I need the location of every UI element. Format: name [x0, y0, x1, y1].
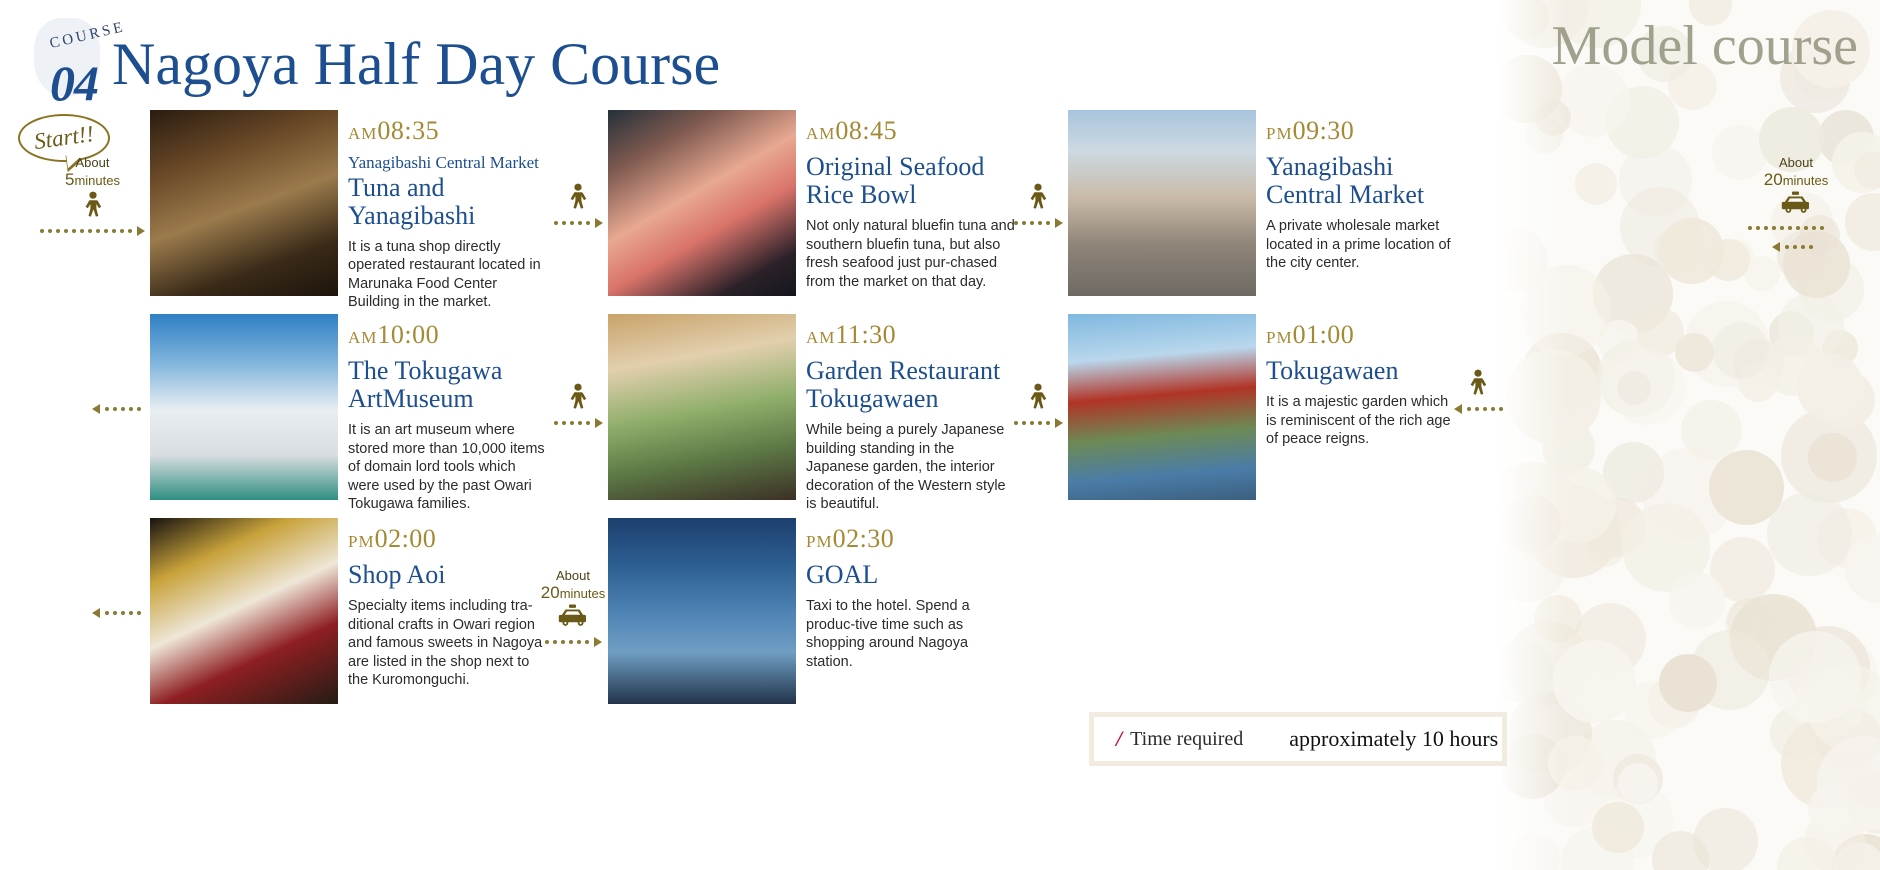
- arrow-dot: [586, 221, 590, 225]
- start-label: Start!!: [32, 121, 95, 155]
- walking-person-icon-wrap: [548, 383, 608, 414]
- arrow-dot: [1014, 421, 1018, 425]
- arrow-dot: [1780, 226, 1784, 230]
- card-time-meridiem: AM: [806, 328, 835, 347]
- decorative-circle: [1669, 572, 1725, 628]
- arrow-dot: [121, 611, 125, 615]
- card-photo: [150, 518, 338, 704]
- arrow-head-icon: [137, 226, 145, 236]
- card-time: AM10:00: [348, 322, 546, 348]
- time-required-box: / Time required approximately 10 hours: [1089, 712, 1507, 766]
- arrow-dot: [577, 640, 581, 644]
- arrow-dot: [113, 611, 117, 615]
- arrow-dot: [1491, 407, 1495, 411]
- card-time: AM08:35: [348, 118, 546, 144]
- connector-about-label: About: [1748, 155, 1844, 170]
- card-time-value: 02:30: [833, 524, 895, 553]
- arrow-dot: [137, 611, 141, 615]
- decorative-circle: [1575, 163, 1617, 205]
- connector-duration-unit: minutes: [1783, 173, 1829, 188]
- arrow-dot: [129, 611, 133, 615]
- card-body: PM02:00Shop AoiSpecialty items including…: [348, 526, 546, 690]
- card-time: AM11:30: [806, 322, 1018, 348]
- arrow-dot: [1756, 226, 1760, 230]
- arrow-dot: [72, 229, 76, 233]
- arrow-dot: [105, 407, 109, 411]
- arrow-dot: [1038, 221, 1042, 225]
- arrow-dot: [1038, 421, 1042, 425]
- connector-duration: 20minutes: [1748, 170, 1844, 190]
- card-photo: [608, 518, 796, 704]
- arrow-dot: [1804, 226, 1808, 230]
- decorative-circle: [1709, 450, 1784, 525]
- card-photo: [608, 110, 796, 296]
- arrow-head-icon: [1055, 218, 1063, 228]
- dotted-arrow: [540, 637, 606, 647]
- card-time: PM09:30: [1266, 118, 1456, 144]
- taxi-icon-wrap: [540, 604, 606, 633]
- arrow-dot: [120, 229, 124, 233]
- card-time-meridiem: AM: [348, 124, 377, 143]
- card-time-meridiem: AM: [806, 124, 835, 143]
- card-time-value: 09:30: [1293, 116, 1355, 145]
- arrow-dot: [1499, 407, 1503, 411]
- taxi-icon-wrap: [1748, 191, 1844, 220]
- route-connector: [548, 382, 608, 428]
- card-description: Taxi to the hotel. Spend a produc-tive t…: [806, 597, 1018, 671]
- arrow-head-icon: [1772, 242, 1780, 252]
- connector-about-label: About: [540, 568, 606, 583]
- arrow-dot: [105, 611, 109, 615]
- card-photo: [608, 314, 796, 500]
- arrow-dot: [1796, 226, 1800, 230]
- card-title: GOAL: [806, 561, 1018, 589]
- decorative-circle: [1618, 763, 1658, 803]
- card-body: PM02:30GOALTaxi to the hotel. Spend a pr…: [806, 526, 1018, 671]
- card-time-meridiem: PM: [1266, 328, 1293, 347]
- card-time: PM01:00: [1266, 322, 1456, 348]
- slash-icon: /: [1116, 726, 1122, 752]
- route-connector: About5minutes: [20, 155, 165, 236]
- arrow-dot: [56, 229, 60, 233]
- arrow-dot: [1030, 421, 1034, 425]
- card-photo: [150, 110, 338, 296]
- card-body: AM08:35Yanagibashi Central MarketTuna an…: [348, 118, 546, 312]
- walking-person-icon: [1027, 183, 1049, 209]
- time-required-label: Time required: [1130, 728, 1243, 751]
- arrow-dot: [1748, 226, 1752, 230]
- decorative-circle: [1659, 654, 1717, 712]
- arrow-dot: [121, 407, 125, 411]
- card-time-meridiem: PM: [806, 532, 833, 551]
- arrow-dot: [88, 229, 92, 233]
- card-time: PM02:30: [806, 526, 1018, 552]
- arrow-dot: [586, 421, 590, 425]
- card-body: AM08:45Original Seafood Rice BowlNot onl…: [806, 118, 1018, 291]
- arrow-head-icon: [595, 418, 603, 428]
- arrow-dot: [1467, 407, 1471, 411]
- arrow-dot: [1030, 221, 1034, 225]
- card-time-meridiem: PM: [348, 532, 375, 551]
- card-subtitle: Yanagibashi Central Market: [348, 153, 546, 173]
- taxi-icon: [1781, 191, 1811, 215]
- walking-person-icon: [567, 383, 589, 409]
- arrow-dot: [128, 229, 132, 233]
- arrow-dot: [570, 421, 574, 425]
- walking-person-icon-wrap: [1448, 369, 1508, 400]
- decorative-circle: [1592, 802, 1643, 853]
- card-title: Tuna and Yanagibashi: [348, 174, 546, 230]
- walking-person-icon-wrap: [548, 183, 608, 214]
- connector-duration-unit: minutes: [560, 586, 606, 601]
- connector-about-label: About: [20, 155, 165, 170]
- card-description: It is a tuna shop directly operated rest…: [348, 238, 546, 312]
- connector-duration-unit: minutes: [74, 173, 120, 188]
- card-description: It is a majestic garden which is reminis…: [1266, 393, 1456, 449]
- card-time: AM08:45: [806, 118, 1018, 144]
- course-number: 04: [50, 54, 98, 112]
- connector-duration: 20minutes: [540, 583, 606, 603]
- card-photo: [1068, 110, 1256, 296]
- model-course-heading: Model course: [1552, 14, 1858, 78]
- arrow-dot: [569, 640, 573, 644]
- card-time-value: 11:30: [835, 320, 896, 349]
- arrow-dot: [1772, 226, 1776, 230]
- dotted-arrow: [1448, 404, 1508, 414]
- card-time-meridiem: PM: [1266, 124, 1293, 143]
- uturn-dotted-arrow: [1748, 226, 1844, 266]
- taxi-icon: [558, 604, 588, 628]
- arrow-head-icon: [595, 218, 603, 228]
- time-required-value: approximately 10 hours: [1289, 726, 1498, 752]
- card-description: It is an art museum where stored more th…: [348, 421, 546, 514]
- dotted-arrow: [20, 226, 165, 236]
- arrow-dot: [96, 229, 100, 233]
- arrow-dot: [1764, 226, 1768, 230]
- decorative-circle: [1767, 492, 1851, 576]
- arrow-dot: [1788, 226, 1792, 230]
- walking-person-icon: [1027, 383, 1049, 409]
- connector-duration-number: 20: [541, 583, 560, 602]
- arrow-dot: [561, 640, 565, 644]
- dotted-arrow: [86, 404, 146, 414]
- card-title: Garden Restaurant Tokugawaen: [806, 357, 1018, 413]
- card-body: AM10:00The Tokugawa ArtMuseumIt is an ar…: [348, 322, 546, 514]
- arrow-dot: [1793, 245, 1797, 249]
- walking-person-icon-wrap: [1008, 183, 1068, 214]
- arrow-dot: [112, 229, 116, 233]
- arrow-dot: [104, 229, 108, 233]
- card-title: Yanagibashi Central Market: [1266, 153, 1456, 209]
- walking-person-icon-wrap: [20, 191, 165, 222]
- decorative-circle: [1712, 322, 1769, 379]
- card-title: The Tokugawa ArtMuseum: [348, 357, 546, 413]
- card-body: AM11:30Garden Restaurant TokugawaenWhile…: [806, 322, 1018, 514]
- arrow-dot: [1046, 221, 1050, 225]
- arrow-dot: [48, 229, 52, 233]
- arrow-dot: [562, 221, 566, 225]
- arrow-dot: [40, 229, 44, 233]
- card-title: Shop Aoi: [348, 561, 546, 589]
- arrow-dot: [80, 229, 84, 233]
- arrow-dot: [1475, 407, 1479, 411]
- card-title: Original Seafood Rice Bowl: [806, 153, 1018, 209]
- card-body: PM09:30Yanagibashi Central MarketA priva…: [1266, 118, 1456, 273]
- dotted-arrow: [1008, 418, 1068, 428]
- page-header: COURSE 04 Nagoya Half Day Course Model c…: [0, 0, 1880, 112]
- walking-person-icon: [1467, 369, 1489, 395]
- dotted-arrow: [1008, 218, 1068, 228]
- dotted-arrow: [548, 218, 608, 228]
- route-connector: [86, 400, 146, 414]
- arrow-dot: [1820, 226, 1824, 230]
- arrow-dot: [585, 640, 589, 644]
- arrow-dot: [1022, 421, 1026, 425]
- decorative-circle: [1797, 354, 1864, 421]
- card-description: A private wholesale market located in a …: [1266, 217, 1456, 273]
- card-description: While being a purely Japanese building s…: [806, 421, 1018, 514]
- route-connector: [548, 182, 608, 228]
- card-photo: [1068, 314, 1256, 500]
- arrow-dot: [554, 421, 558, 425]
- arrow-dot: [64, 229, 68, 233]
- decorative-circle: [1675, 333, 1714, 372]
- arrow-dot: [1785, 245, 1789, 249]
- arrow-dot: [129, 407, 133, 411]
- route-connector: [1008, 382, 1068, 428]
- route-connector: [1008, 182, 1068, 228]
- arrow-dot: [1014, 221, 1018, 225]
- route-connector: About20minutes: [540, 568, 606, 647]
- connector-duration-number: 20: [1764, 170, 1783, 189]
- arrow-dot: [578, 421, 582, 425]
- decorative-circle: [1808, 433, 1857, 482]
- arrow-dot: [1812, 226, 1816, 230]
- arrow-head-icon: [1454, 404, 1462, 414]
- arrow-dot: [562, 421, 566, 425]
- route-connector: [86, 604, 146, 618]
- connector-duration: 5minutes: [20, 170, 165, 190]
- arrow-dot: [554, 221, 558, 225]
- arrow-dot: [1483, 407, 1487, 411]
- arrow-dot: [113, 407, 117, 411]
- route-connector: [1448, 368, 1508, 414]
- arrow-dot: [137, 407, 141, 411]
- card-description: Not only natural bluefin tuna and southe…: [806, 217, 1018, 291]
- decorative-circle: [1845, 193, 1880, 251]
- arrow-head-icon: [1055, 418, 1063, 428]
- arrow-dot: [545, 640, 549, 644]
- walking-person-icon-wrap: [1008, 383, 1068, 414]
- walking-person-icon: [567, 183, 589, 209]
- dotted-arrow: [86, 608, 146, 618]
- arrow-dot: [578, 221, 582, 225]
- card-time-meridiem: AM: [348, 328, 377, 347]
- card-photo: [150, 314, 338, 500]
- decorative-circle: [1769, 631, 1861, 723]
- card-time-value: 01:00: [1293, 320, 1355, 349]
- card-time-value: 10:00: [377, 320, 439, 349]
- card-description: Specialty items including tra-ditional c…: [348, 597, 546, 690]
- route-connector: About20minutes: [1748, 155, 1844, 266]
- page-title: Nagoya Half Day Course: [112, 30, 720, 99]
- walking-person-icon: [82, 191, 104, 217]
- card-time: PM02:00: [348, 526, 546, 552]
- decorative-circle: [1659, 218, 1724, 283]
- arrow-dot: [1046, 421, 1050, 425]
- card-title: Tokugawaen: [1266, 357, 1456, 385]
- arrow-dot: [553, 640, 557, 644]
- arrow-head-icon: [92, 404, 100, 414]
- card-time-value: 02:00: [375, 524, 437, 553]
- decorative-background-panel: [1496, 0, 1880, 870]
- card-time-value: 08:35: [377, 116, 439, 145]
- arrow-head-icon: [594, 637, 602, 647]
- arrow-dot: [1809, 245, 1813, 249]
- arrow-dot: [570, 221, 574, 225]
- card-body: PM01:00TokugawaenIt is a majestic garden…: [1266, 322, 1456, 449]
- card-time-value: 08:45: [835, 116, 897, 145]
- arrow-dot: [1022, 221, 1026, 225]
- arrow-dot: [1801, 245, 1805, 249]
- arrow-head-icon: [92, 608, 100, 618]
- dotted-arrow: [548, 418, 608, 428]
